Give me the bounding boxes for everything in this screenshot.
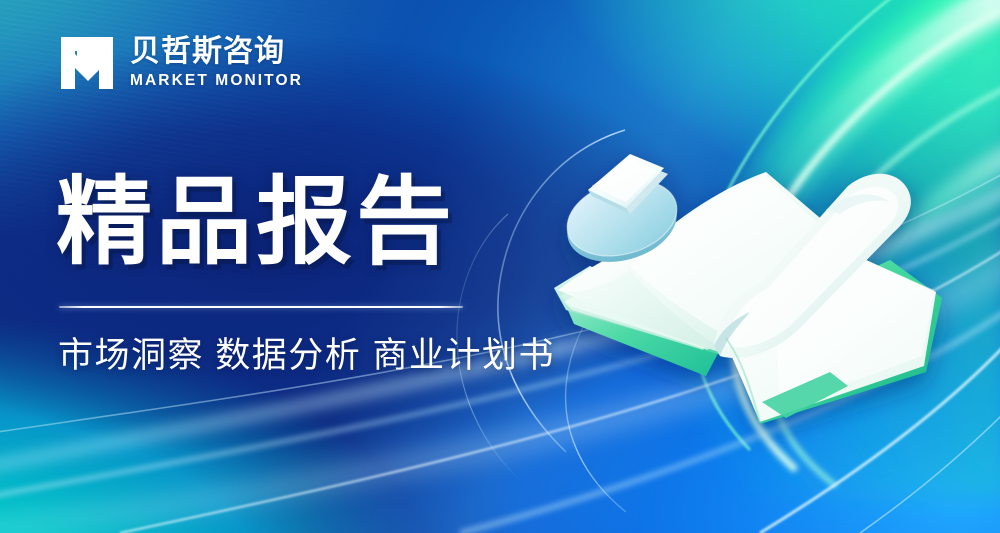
brand-logo[interactable]: 贝哲斯咨询 MARKET MONITOR [58,34,303,92]
page-title: 精品报告 [56,173,456,274]
open-book-illustration [530,140,960,440]
promo-banner: 贝哲斯咨询 MARKET MONITOR 精品报告 市场洞察 数据分析 商业计划… [0,0,1000,533]
brand-name-cn: 贝哲斯咨询 [130,36,303,68]
brand-name-en: MARKET MONITOR [130,72,303,91]
page-subtitle: 市场洞察 数据分析 商业计划书 [58,334,555,378]
title-divider [59,306,463,308]
brand-wordmark: 贝哲斯咨询 MARKET MONITOR [130,36,303,91]
m-monogram-bracket-icon [58,34,116,92]
